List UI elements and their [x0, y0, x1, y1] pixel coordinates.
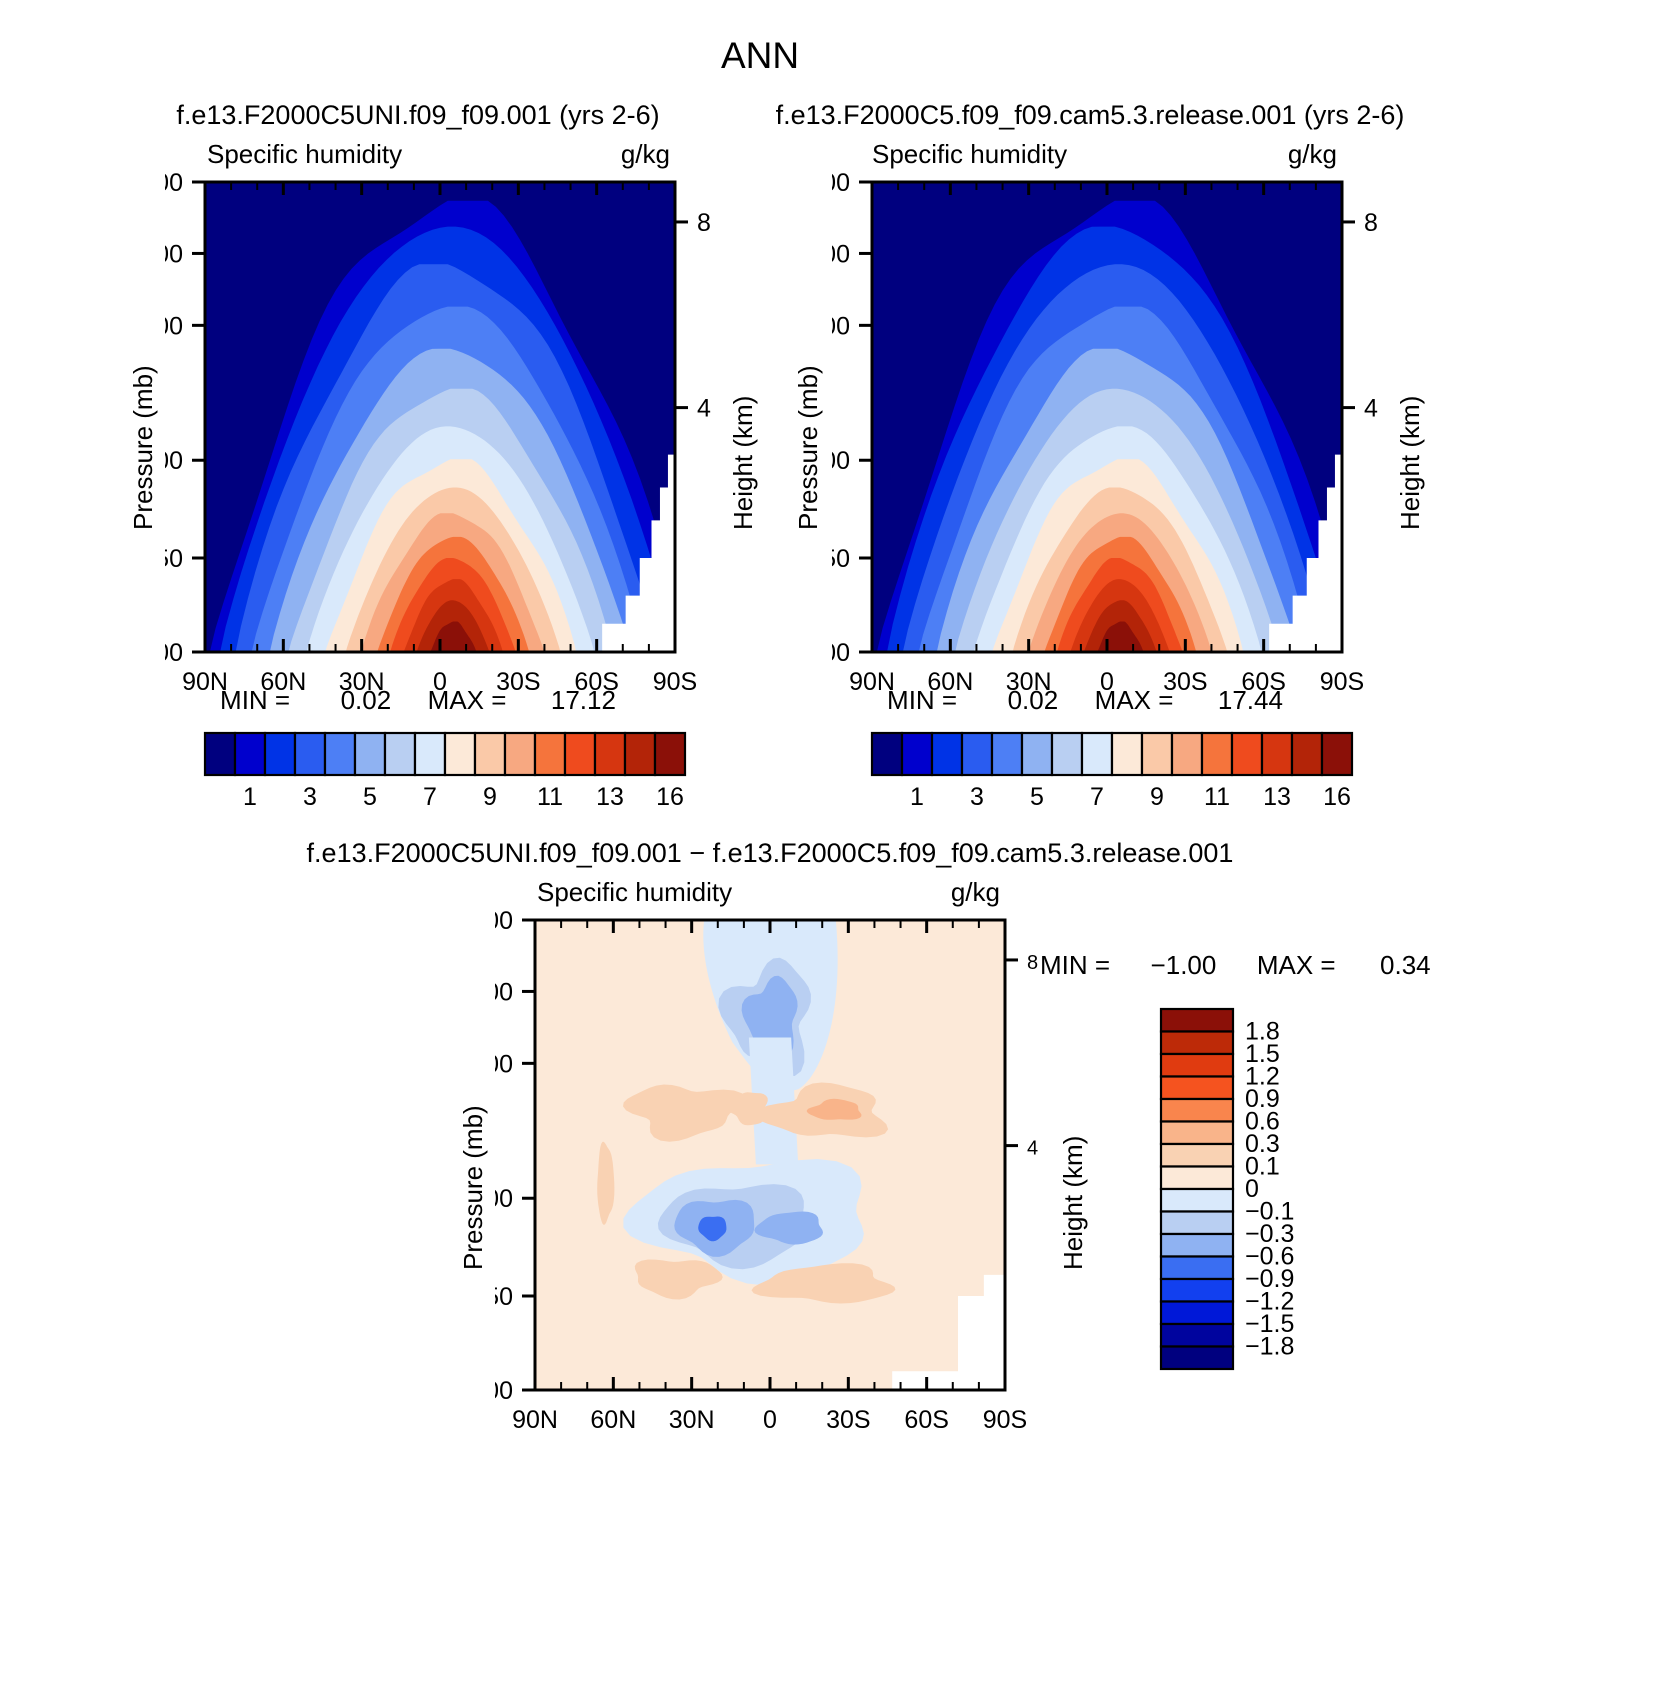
bottom-y2label: Height (km) — [1058, 1136, 1089, 1270]
colorbar-cell-7 — [415, 733, 445, 775]
colorbar-tick-16: 16 — [656, 783, 684, 811]
colorbar-tick-11: 11 — [537, 783, 563, 811]
diff-colorbar-tick-14: −1.8 — [1245, 1333, 1294, 1361]
y2-tick-8: 8 — [697, 209, 711, 237]
colorbar-cell-1 — [235, 733, 265, 775]
y-tick-400: 400 — [165, 240, 183, 268]
y-tick-300: 300 — [832, 169, 850, 197]
bottom-max-label: MAX = — [1257, 950, 1336, 980]
difference-field — [535, 920, 1005, 1390]
colorbar-tick-9: 9 — [1150, 783, 1164, 811]
y-tick-300: 300 — [495, 907, 513, 935]
top-left-minmax: MIN = 0.02 MAX = 17.12 — [220, 685, 616, 716]
y-tick-500: 500 — [495, 1050, 513, 1078]
top-right-y2label: Height (km) — [1395, 396, 1426, 530]
colorbar-cell-0 — [205, 733, 235, 775]
bottom-colorbar: 1.81.51.20.90.60.30.10−0.1−0.3−0.6−0.9−1… — [1155, 1003, 1385, 1383]
x-tick-0: 0 — [763, 1406, 777, 1434]
y-tick-500: 500 — [165, 312, 183, 340]
diff-colorbar-cell-11 — [1161, 1257, 1233, 1280]
diff-colorbar-cell-12 — [1161, 1279, 1233, 1302]
x-tick-90S: 90S — [1320, 668, 1364, 696]
top-left-plot: 90N60N30N030S60S90S300400500700850100084 — [165, 160, 725, 720]
colorbar-cell-14 — [1292, 733, 1322, 775]
colorbar-tick-3: 3 — [303, 783, 317, 811]
colorbar-tick-5: 5 — [1030, 783, 1044, 811]
top-left-min-label: MIN = — [220, 685, 290, 715]
top-left-min-value: 0.02 — [341, 685, 392, 715]
y2-tick-8: 8 — [1364, 209, 1378, 237]
x-tick-90S: 90S — [983, 1406, 1027, 1434]
colorbar-tick-13: 13 — [596, 783, 624, 811]
top-right-max-label: MAX = — [1095, 685, 1174, 715]
x-tick-60S: 60S — [904, 1406, 948, 1434]
x-tick-30S: 30S — [826, 1406, 870, 1434]
colorbar-cell-3 — [295, 733, 325, 775]
colorbar-cell-7 — [1082, 733, 1112, 775]
bottom-max-value: 0.34 — [1380, 950, 1431, 980]
top-left-panel-title: f.e13.F2000C5UNI.f09_f09.001 (yrs 2-6) — [176, 100, 659, 131]
colorbar-tick-13: 13 — [1263, 783, 1291, 811]
top-right-max-value: 17.44 — [1218, 685, 1283, 715]
x-tick-90S: 90S — [653, 668, 697, 696]
diff-colorbar-cell-3 — [1161, 1077, 1233, 1100]
colorbar-cell-14 — [625, 733, 655, 775]
bottom-minmax: MIN = −1.00 MAX = 0.34 — [1040, 950, 1431, 981]
y-tick-700: 700 — [832, 447, 850, 475]
y-tick-500: 500 — [832, 312, 850, 340]
colorbar-cell-13 — [1262, 733, 1292, 775]
bottom-plot: 90N60N30N030S60S90S300400500700850100084 — [495, 898, 1055, 1458]
bottom-min-label: MIN = — [1040, 950, 1110, 980]
colorbar-cell-1 — [902, 733, 932, 775]
y-tick-1000: 1000 — [165, 639, 183, 667]
top-left-colorbar: 13579111316 — [195, 725, 695, 815]
top-left-ylabel: Pressure (mb) — [128, 365, 159, 530]
colorbar-cell-8 — [1112, 733, 1142, 775]
y-tick-850: 850 — [165, 545, 183, 573]
colorbar-cell-4 — [992, 733, 1022, 775]
diff-colorbar-cell-8 — [1161, 1189, 1233, 1212]
y-tick-1000: 1000 — [832, 639, 850, 667]
colorbar-cell-6 — [385, 733, 415, 775]
colorbar-cell-2 — [265, 733, 295, 775]
colorbar-tick-1: 1 — [910, 783, 924, 811]
y-tick-400: 400 — [832, 240, 850, 268]
diff-colorbar-cell-1 — [1161, 1032, 1233, 1055]
diff-colorbar-cell-15 — [1161, 1347, 1233, 1370]
diff-colorbar-cell-14 — [1161, 1324, 1233, 1347]
colorbar-cell-5 — [1022, 733, 1052, 775]
colorbar-cell-15 — [1322, 733, 1352, 775]
colorbar-tick-5: 5 — [363, 783, 377, 811]
colorbar-cell-2 — [932, 733, 962, 775]
y2-tick-4: 4 — [1027, 1138, 1038, 1160]
bottom-min-value: −1.00 — [1151, 950, 1217, 980]
colorbar-tick-7: 7 — [423, 783, 437, 811]
top-right-colorbar: 13579111316 — [862, 725, 1362, 815]
diff-colorbar-cell-9 — [1161, 1212, 1233, 1235]
colorbar-tick-16: 16 — [1323, 783, 1351, 811]
y-tick-1000: 1000 — [495, 1377, 513, 1405]
colorbar-tick-3: 3 — [970, 783, 984, 811]
diff-colorbar-cell-2 — [1161, 1054, 1233, 1077]
colorbar-cell-8 — [445, 733, 475, 775]
colorbar-cell-6 — [1052, 733, 1082, 775]
figure-root: ANN f.e13.F2000C5UNI.f09_f09.001 (yrs 2-… — [0, 0, 1660, 1699]
x-tick-30N: 30N — [669, 1406, 715, 1434]
top-right-min-value: 0.02 — [1008, 685, 1059, 715]
diff-colorbar-cell-6 — [1161, 1144, 1233, 1167]
bottom-ylabel: Pressure (mb) — [458, 1105, 489, 1270]
top-left-max-value: 17.12 — [551, 685, 616, 715]
y-tick-700: 700 — [165, 447, 183, 475]
colorbar-cell-0 — [872, 733, 902, 775]
colorbar-cell-12 — [1232, 733, 1262, 775]
y-tick-850: 850 — [832, 545, 850, 573]
x-tick-90N: 90N — [512, 1406, 558, 1434]
top-right-panel-title: f.e13.F2000C5.f09_f09.cam5.3.release.001… — [776, 100, 1405, 131]
contour-field — [872, 182, 1355, 661]
colorbar-cell-4 — [325, 733, 355, 775]
colorbar-cell-9 — [1142, 733, 1172, 775]
diff-colorbar-cell-5 — [1161, 1122, 1233, 1145]
x-tick-60N: 60N — [590, 1406, 636, 1434]
diff-colorbar-cell-4 — [1161, 1099, 1233, 1122]
top-right-plot: 90N60N30N030S60S90S300400500700850100084 — [832, 160, 1392, 720]
y-tick-850: 850 — [495, 1283, 513, 1311]
colorbar-cell-12 — [565, 733, 595, 775]
y2-tick-4: 4 — [1364, 395, 1378, 423]
main-title: ANN — [721, 35, 799, 77]
contour-field — [205, 182, 688, 661]
colorbar-cell-15 — [655, 733, 685, 775]
top-right-minmax: MIN = 0.02 MAX = 17.44 — [887, 685, 1283, 716]
colorbar-tick-7: 7 — [1090, 783, 1104, 811]
diff-colorbar-cell-13 — [1161, 1302, 1233, 1325]
colorbar-cell-9 — [475, 733, 505, 775]
colorbar-cell-11 — [535, 733, 565, 775]
diff-colorbar-cell-7 — [1161, 1167, 1233, 1190]
colorbar-cell-3 — [962, 733, 992, 775]
top-left-max-label: MAX = — [428, 685, 507, 715]
bottom-panel-title: f.e13.F2000C5UNI.f09_f09.001 − f.e13.F20… — [307, 838, 1234, 869]
y2-tick-8: 8 — [1027, 952, 1038, 974]
colorbar-tick-11: 11 — [1204, 783, 1230, 811]
diff-colorbar-cell-0 — [1161, 1009, 1233, 1032]
top-left-y2label: Height (km) — [728, 396, 759, 530]
y-tick-300: 300 — [165, 169, 183, 197]
colorbar-cell-11 — [1202, 733, 1232, 775]
colorbar-tick-9: 9 — [483, 783, 497, 811]
y-tick-700: 700 — [495, 1185, 513, 1213]
y2-tick-4: 4 — [697, 395, 711, 423]
colorbar-tick-1: 1 — [243, 783, 257, 811]
colorbar-cell-13 — [595, 733, 625, 775]
top-right-min-label: MIN = — [887, 685, 957, 715]
diff-colorbar-cell-10 — [1161, 1234, 1233, 1257]
colorbar-cell-10 — [1172, 733, 1202, 775]
top-right-ylabel: Pressure (mb) — [793, 365, 824, 530]
colorbar-cell-10 — [505, 733, 535, 775]
colorbar-cell-5 — [355, 733, 385, 775]
y-tick-400: 400 — [495, 978, 513, 1006]
